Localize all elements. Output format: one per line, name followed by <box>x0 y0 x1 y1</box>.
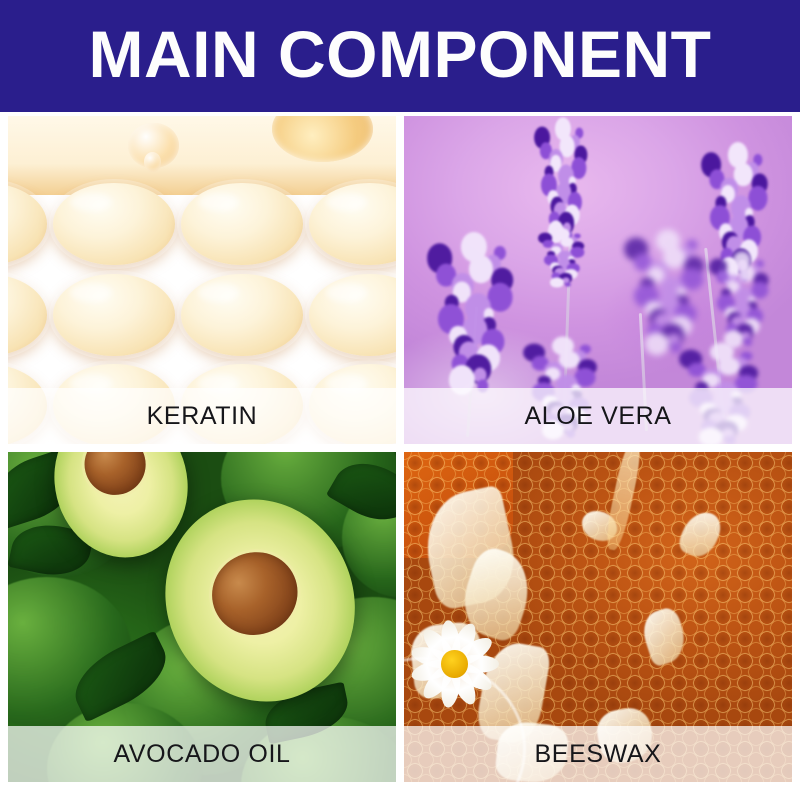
panel-label-beeswax: BEESWAX <box>404 726 792 782</box>
avocado-pit <box>199 539 311 649</box>
keratin-capsule <box>309 183 396 266</box>
keratin-capsule <box>181 274 303 357</box>
lavender-floret <box>645 332 669 355</box>
honey-drizzle <box>602 452 644 552</box>
page-title: MAIN COMPONENT <box>89 21 712 87</box>
lavender-flower-spike <box>532 129 594 241</box>
ingredient-panel-beeswax[interactable]: BEESWAX <box>404 452 792 782</box>
ingredient-panel-avocado-oil[interactable]: AVOCADO OIL <box>8 452 396 782</box>
keratin-capsule <box>8 274 47 357</box>
lavender-floret <box>565 282 571 287</box>
panel-label-keratin: KERATIN <box>8 388 396 444</box>
lavender-flower-spike <box>621 241 714 353</box>
keratin-capsule <box>53 183 175 266</box>
oil-droplet-icon <box>144 152 161 172</box>
lavender-floret <box>671 343 682 353</box>
lavender-floret <box>748 186 767 211</box>
lavender-floret <box>488 283 513 312</box>
ingredient-infographic: MAIN COMPONENT KERATIN <box>0 0 800 800</box>
header-banner: MAIN COMPONENT <box>0 0 800 112</box>
keratin-capsule <box>309 274 396 357</box>
keratin-capsule <box>181 183 303 266</box>
ingredient-name-beeswax: BEESWAX <box>535 742 662 767</box>
ingredient-panel-keratin[interactable]: KERATIN <box>8 116 396 444</box>
lavender-flower-spike <box>423 247 524 391</box>
lavender-flower-spike <box>536 234 590 286</box>
ingredient-name-aloe-vera: ALOE VERA <box>524 404 671 429</box>
ingredient-name-keratin: KERATIN <box>147 404 258 429</box>
beeswax-chunk <box>676 507 726 563</box>
keratin-capsule <box>8 183 47 266</box>
ingredient-panel-aloe-vera[interactable]: ALOE VERA <box>404 116 792 444</box>
ingredient-name-avocado-oil: AVOCADO OIL <box>113 742 290 767</box>
ingredient-grid: KERATIN ALOE VERA AVOCADO OIL <box>8 116 792 782</box>
lavender-floret <box>572 157 587 179</box>
lavender-flower-spike <box>707 260 777 345</box>
avocado-pit <box>78 452 152 501</box>
lavender-floret <box>550 277 564 288</box>
daisy-center <box>441 650 467 677</box>
lavender-floret <box>744 338 752 346</box>
panel-label-avocado-oil: AVOCADO OIL <box>8 726 396 782</box>
beeswax-chunk <box>637 606 690 668</box>
keratin-capsule <box>53 274 175 357</box>
panel-label-aloe-vera: ALOE VERA <box>404 388 792 444</box>
